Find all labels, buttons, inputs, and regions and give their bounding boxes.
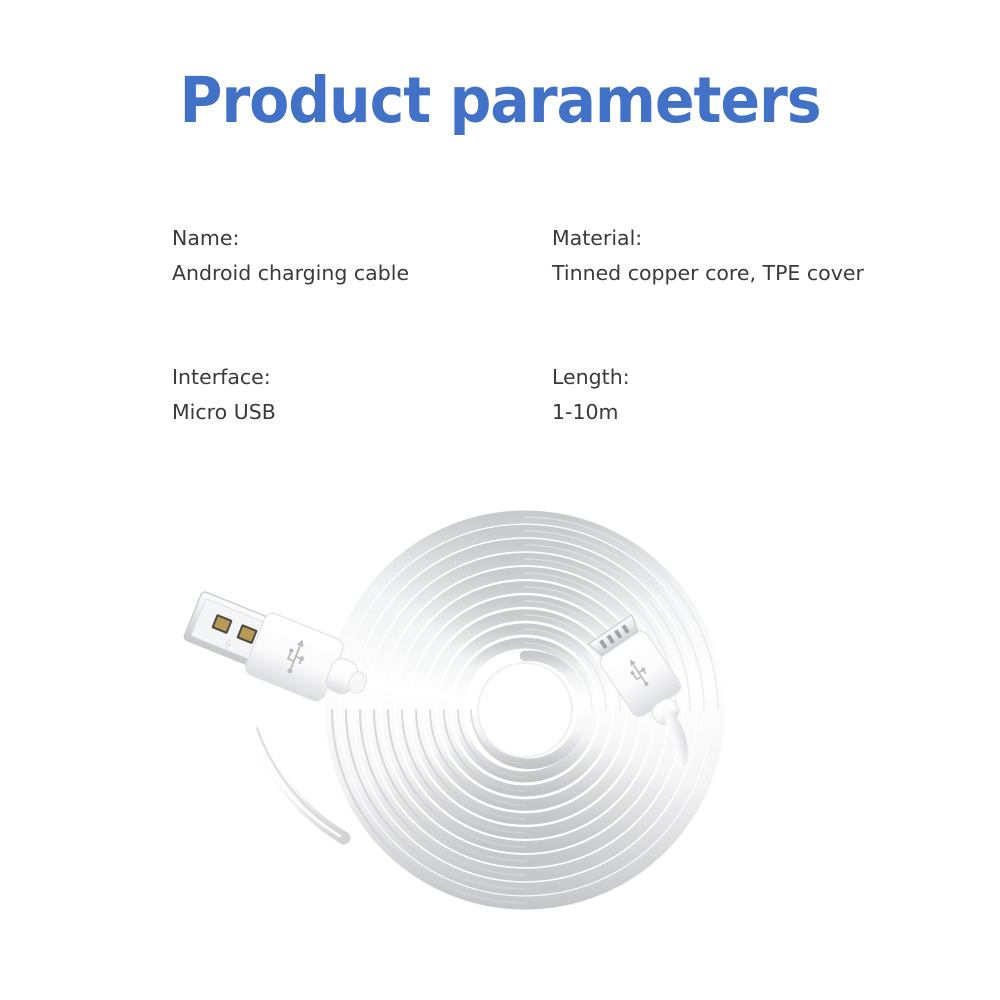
product-parameters-page: Product parameters Name: Android chargin…: [0, 0, 1000, 1000]
page-title: Product parameters: [35, 68, 965, 134]
spec-row: Name: Android charging cable Material: T…: [172, 228, 952, 283]
spec-grid: Name: Android charging cable Material: T…: [172, 228, 952, 422]
spec-value: Android charging cable: [172, 263, 552, 284]
spec-value: Micro USB: [172, 402, 552, 423]
spec-item-material: Material: Tinned copper core, TPE cover: [552, 228, 952, 283]
spec-item-length: Length: 1-10m: [552, 367, 952, 422]
spec-label: Interface:: [172, 367, 552, 388]
spec-row: Interface: Micro USB Length: 1-10m: [172, 367, 952, 422]
spec-label: Length:: [552, 367, 952, 388]
product-image: [0, 440, 1000, 1000]
spec-item-name: Name: Android charging cable: [172, 228, 552, 283]
spec-value: 1-10m: [552, 402, 952, 423]
spec-label: Name:: [172, 228, 552, 249]
spec-item-interface: Interface: Micro USB: [172, 367, 552, 422]
spec-value: Tinned copper core, TPE cover: [552, 263, 952, 284]
spec-label: Material:: [552, 228, 952, 249]
